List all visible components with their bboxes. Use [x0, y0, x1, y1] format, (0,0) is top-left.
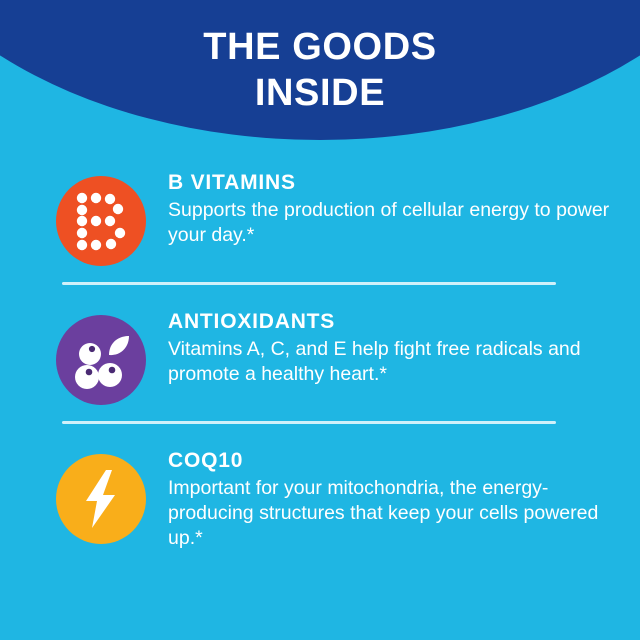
feature-row: COQ10 Important for your mitochondria, t…	[0, 438, 640, 551]
b-vitamins-dotted-b-icon	[56, 176, 146, 266]
feature-body: Important for your mitochondria, the ene…	[168, 476, 610, 551]
feature-body: Vitamins A, C, and E help fight free rad…	[168, 337, 610, 387]
feature-heading: COQ10	[168, 448, 610, 474]
antioxidants-berries-icon	[56, 315, 146, 405]
section-divider	[62, 421, 556, 424]
page-title-line-2: INSIDE	[0, 70, 640, 116]
feature-row: ANTIOXIDANTS Vitamins A, C, and E help f…	[0, 299, 640, 405]
feature-row: B VITAMINS Supports the production of ce…	[0, 160, 640, 266]
feature-heading: ANTIOXIDANTS	[168, 309, 610, 335]
coq10-lightning-bolt-icon	[56, 454, 146, 544]
feature-text: COQ10 Important for your mitochondria, t…	[168, 438, 640, 551]
infographic-page: THE GOODS INSIDE	[0, 0, 640, 640]
feature-body: Supports the production of cellular ener…	[168, 198, 610, 248]
feature-icon-wrap	[56, 454, 146, 544]
feature-list: B VITAMINS Supports the production of ce…	[0, 160, 640, 551]
section-divider	[62, 282, 556, 285]
feature-heading: B VITAMINS	[168, 170, 610, 196]
feature-text: B VITAMINS Supports the production of ce…	[168, 160, 640, 248]
feature-text: ANTIOXIDANTS Vitamins A, C, and E help f…	[168, 299, 640, 387]
page-title: THE GOODS INSIDE	[0, 24, 640, 116]
page-title-line-1: THE GOODS	[0, 24, 640, 70]
feature-icon-wrap	[56, 176, 146, 266]
feature-icon-wrap	[56, 315, 146, 405]
